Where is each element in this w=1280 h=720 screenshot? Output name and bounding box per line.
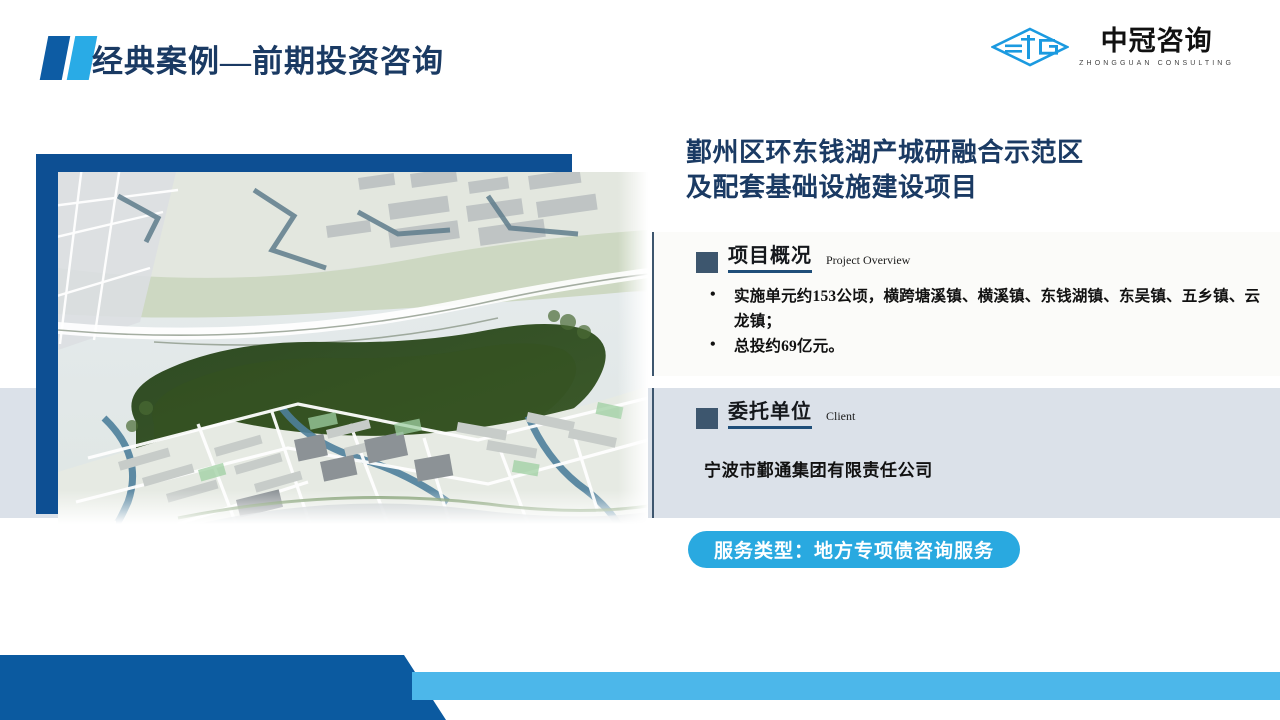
image-bottom-fade [58, 490, 648, 524]
client-heading-cn: 委托单位 [728, 402, 812, 429]
project-title-line2: 及配套基础设施建设项目 [686, 171, 1246, 206]
list-item: 实施单元约153公顷，横跨塘溪镇、横溪镇、东钱湖镇、东吴镇、五乡镇、云龙镇； [700, 284, 1270, 334]
list-item: 总投约69亿元。 [700, 334, 1270, 359]
brand-name-en: ZHONGGUAN CONSULTING [1079, 60, 1234, 67]
service-type-label: 服务类型：地方专项债咨询服务 [714, 536, 994, 563]
footer-shape-dark [0, 655, 446, 720]
project-title-line1: 鄞州区环东钱湖产城研融合示范区 [686, 136, 1246, 171]
overview-bullet-list: 实施单元约153公顷，横跨塘溪镇、横溪镇、东钱湖镇、东吴镇、五乡镇、云龙镇； 总… [700, 284, 1270, 359]
section-marker-square-icon [696, 408, 718, 429]
brand-name-cn: 中冠咨询 [1101, 28, 1213, 55]
client-card: 委托单位 Client 宁波市鄞通集团有限责任公司 [652, 388, 1280, 518]
client-heading-en: Client [826, 409, 855, 429]
overview-heading-en: Project Overview [826, 253, 910, 273]
image-right-fade [618, 172, 648, 524]
overview-heading-cn: 项目概况 [728, 246, 812, 273]
project-title: 鄞州区环东钱湖产城研融合示范区 及配套基础设施建设项目 [686, 136, 1246, 206]
footer-shape-light [412, 672, 1280, 700]
client-name: 宁波市鄞通集团有限责任公司 [704, 456, 933, 481]
accent-bar-dark-icon [40, 36, 71, 80]
slide-root: 经典案例—前期投资咨询 中冠咨询 ZHONGGUAN CONSULTING [0, 0, 1280, 720]
aerial-plan-illustration [58, 172, 648, 524]
overview-heading: 项目概况 Project Overview [696, 246, 910, 273]
service-type-badge: 服务类型：地方专项债咨询服务 [688, 531, 1020, 568]
page-title: 经典案例—前期投资咨询 [92, 36, 444, 81]
client-heading: 委托单位 Client [696, 402, 855, 429]
project-overview-card: 项目概况 Project Overview 实施单元约153公顷，横跨塘溪镇、横… [652, 232, 1280, 376]
brand-logo-text: 中冠咨询 ZHONGGUAN CONSULTING [1079, 28, 1234, 67]
zhongguan-logo-icon [991, 27, 1069, 67]
brand-logo: 中冠咨询 ZHONGGUAN CONSULTING [991, 24, 1234, 70]
section-marker-square-icon [696, 252, 718, 273]
aerial-plan-image [58, 172, 648, 524]
